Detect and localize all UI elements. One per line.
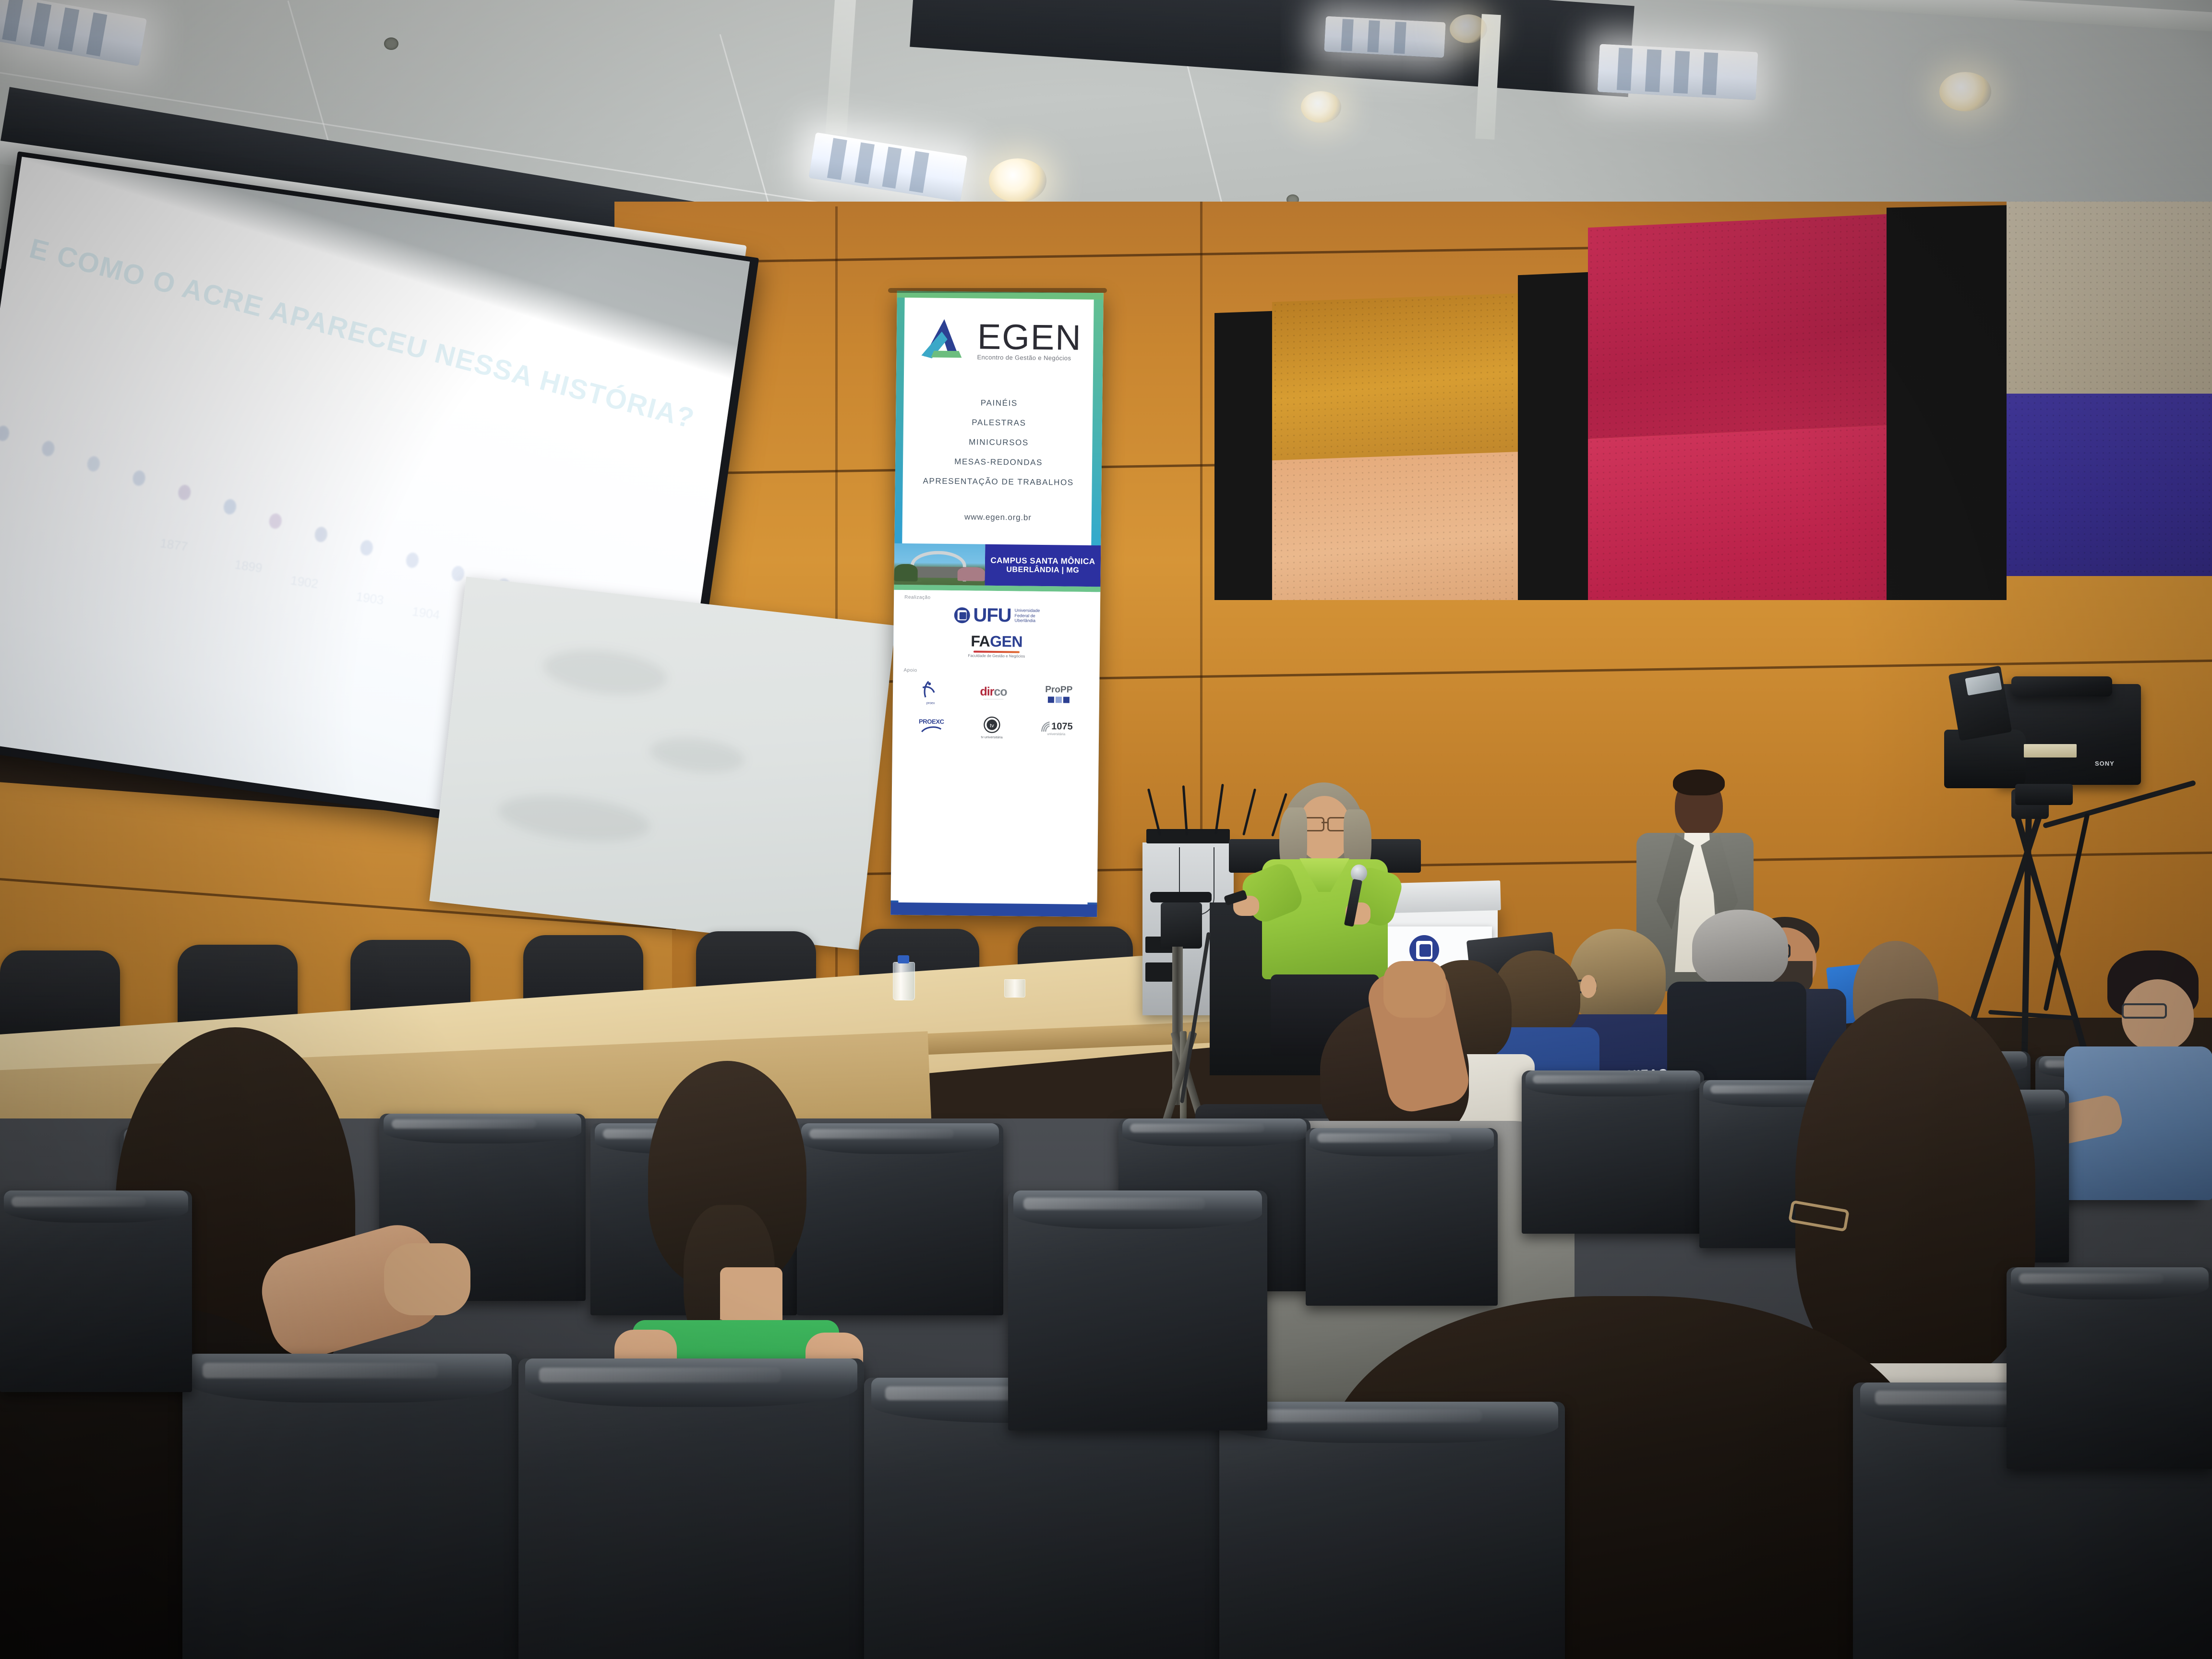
ufu-mark-icon — [954, 607, 970, 623]
fagen-logo: FAGEN Faculdade de Gestão e Negócios — [901, 632, 1093, 659]
egen-wordmark-text: EGEN — [977, 322, 1082, 352]
sony-camcorder: SONY — [1930, 670, 2155, 814]
acoustic-panel-indigo — [2007, 394, 2212, 576]
acoustic-panel-wall — [1195, 202, 2212, 600]
auditorium-photo: E COMO O ACRE APARECEU NESSA HISTÓRIA? 1… — [0, 0, 2212, 1659]
fagen-part-a: FA — [971, 632, 990, 649]
propp-label: ProPP — [1045, 685, 1072, 696]
sponsor-proex: proex — [920, 680, 942, 705]
banner-item: PAINÉIS — [908, 397, 1090, 409]
acoustic-panel-peach — [1272, 452, 1522, 600]
audience-hand — [384, 1243, 470, 1315]
ceiling-downlight — [1939, 72, 1991, 111]
egen-logo: EGEN Encontro de Gestão e Negócios — [909, 315, 1091, 369]
ceiling-downlight — [1301, 91, 1341, 123]
campus-photo — [894, 543, 985, 586]
support-label: Apoio — [903, 668, 1092, 675]
banner-item: APRESENTAÇÃO DE TRABALHOS — [908, 476, 1089, 488]
dirco-part-a: dir — [980, 685, 994, 698]
audience-hand — [1383, 961, 1446, 1018]
banner-item: PALESTRAS — [908, 417, 1090, 429]
panel-chair[interactable] — [0, 950, 120, 1037]
banner-item: MINICURSOS — [908, 437, 1089, 448]
acoustic-panel-crimson-upper — [1588, 214, 1890, 439]
moderator-hair — [1673, 769, 1725, 795]
ceiling-downlight — [989, 158, 1046, 203]
sponsor-radio: 1075 universitária — [1040, 721, 1073, 736]
acoustic-panel-crimson-lower — [1588, 425, 1890, 600]
ufu-wordmark: UFU — [973, 605, 1011, 625]
banner-sponsors: Realização UFU Universidade Federal de U… — [891, 590, 1101, 902]
radio-sub: universitária — [1040, 732, 1073, 736]
egen-banner: EGEN Encontro de Gestão e Negócios PAINÉ… — [890, 291, 1104, 917]
egen-tagline: Encontro de Gestão e Negócios — [977, 354, 1071, 362]
acoustic-panel-black-strip — [1214, 311, 1272, 600]
fagen-wordmark: FAGEN — [901, 632, 1092, 651]
ceiling-light-troffer — [1598, 44, 1758, 100]
speaker-glasses-icon — [1301, 817, 1348, 829]
tv-label: tv universitária — [981, 736, 1002, 739]
campus-line-2: UBERLÂNDIA | MG — [1006, 565, 1079, 575]
smoke-detector-icon — [384, 37, 398, 50]
sponsors-row-2: PROEXC tv tv universitária 1075 universi… — [900, 715, 1091, 740]
tripod-head-small — [1161, 902, 1202, 949]
campus-label: CAMPUS SANTA MÔNICA UBERLÂNDIA | MG — [985, 544, 1101, 587]
camcorder-brand-label: SONY — [2095, 760, 2115, 767]
whiteboard — [429, 577, 895, 950]
banner-item: MESAS-REDONDAS — [908, 457, 1089, 468]
bottle-cap — [898, 955, 910, 963]
ufu-logo: UFU Universidade Federal de Uberlândia — [902, 605, 1093, 626]
sponsor-phoenix: PROEXC — [919, 718, 944, 736]
audience-hair — [1692, 910, 1788, 986]
acoustic-panel-beige — [2007, 202, 2212, 394]
auditorium-seat-foreground[interactable] — [1008, 1190, 1267, 1431]
auditorium-seat[interactable] — [1306, 1128, 1498, 1306]
svg-text:tv: tv — [990, 723, 994, 729]
sponsor-dirco: dirco ——————— — [980, 685, 1007, 701]
auditorium-seat-foreground[interactable] — [518, 1358, 864, 1659]
banner-campus-strip: CAMPUS SANTA MÔNICA UBERLÂNDIA | MG — [894, 543, 1101, 587]
auditorium-seat-foreground[interactable] — [2007, 1267, 2212, 1469]
banner-hanger — [888, 288, 1107, 293]
fagen-underline — [974, 650, 1020, 653]
audience-glasses-icon — [2122, 1003, 2167, 1019]
campus-line-1: CAMPUS SANTA MÔNICA — [990, 556, 1095, 566]
water-bottle[interactable] — [893, 955, 914, 1001]
auditorium-seat[interactable] — [1522, 1070, 1704, 1234]
banner-url: www.egen.org.br — [907, 512, 1089, 523]
realization-label: Realização — [904, 595, 1093, 602]
camcorder-mount — [2015, 784, 2073, 805]
ufu-subtitle: Universidade Federal de Uberlândia — [1014, 608, 1040, 624]
egen-triangle-icon — [917, 315, 971, 367]
auditorium-seat-foreground[interactable] — [1219, 1402, 1565, 1659]
fagen-subtitle: Faculdade de Gestão e Negócios — [901, 653, 1092, 659]
acoustic-panel-gold — [1272, 293, 1522, 460]
auditorium-seat-foreground[interactable] — [182, 1354, 518, 1659]
radio-frequency: 1075 — [1051, 721, 1073, 732]
sponsor-tv-universitaria: tv tv universitária — [981, 716, 1003, 739]
drinking-glass[interactable] — [1004, 979, 1025, 998]
sponsor-propp: ProPP — [1045, 685, 1072, 703]
sponsor-proex-label: proex — [920, 701, 942, 705]
fagen-part-b: GEN — [990, 633, 1022, 650]
acoustic-panel-black-strip — [1518, 272, 1590, 600]
dirco-part-b: co — [994, 685, 1007, 698]
auditorium-seat-foreground[interactable] — [0, 1190, 192, 1392]
sponsors-row-1: proex dirco ——————— ProPP — [901, 680, 1092, 707]
ceiling-downlight — [1450, 14, 1487, 43]
ceiling-light-troffer — [1324, 16, 1446, 58]
phoenix-label: PROEXC — [919, 718, 944, 725]
acoustic-panel-black-strip — [1887, 205, 2007, 600]
